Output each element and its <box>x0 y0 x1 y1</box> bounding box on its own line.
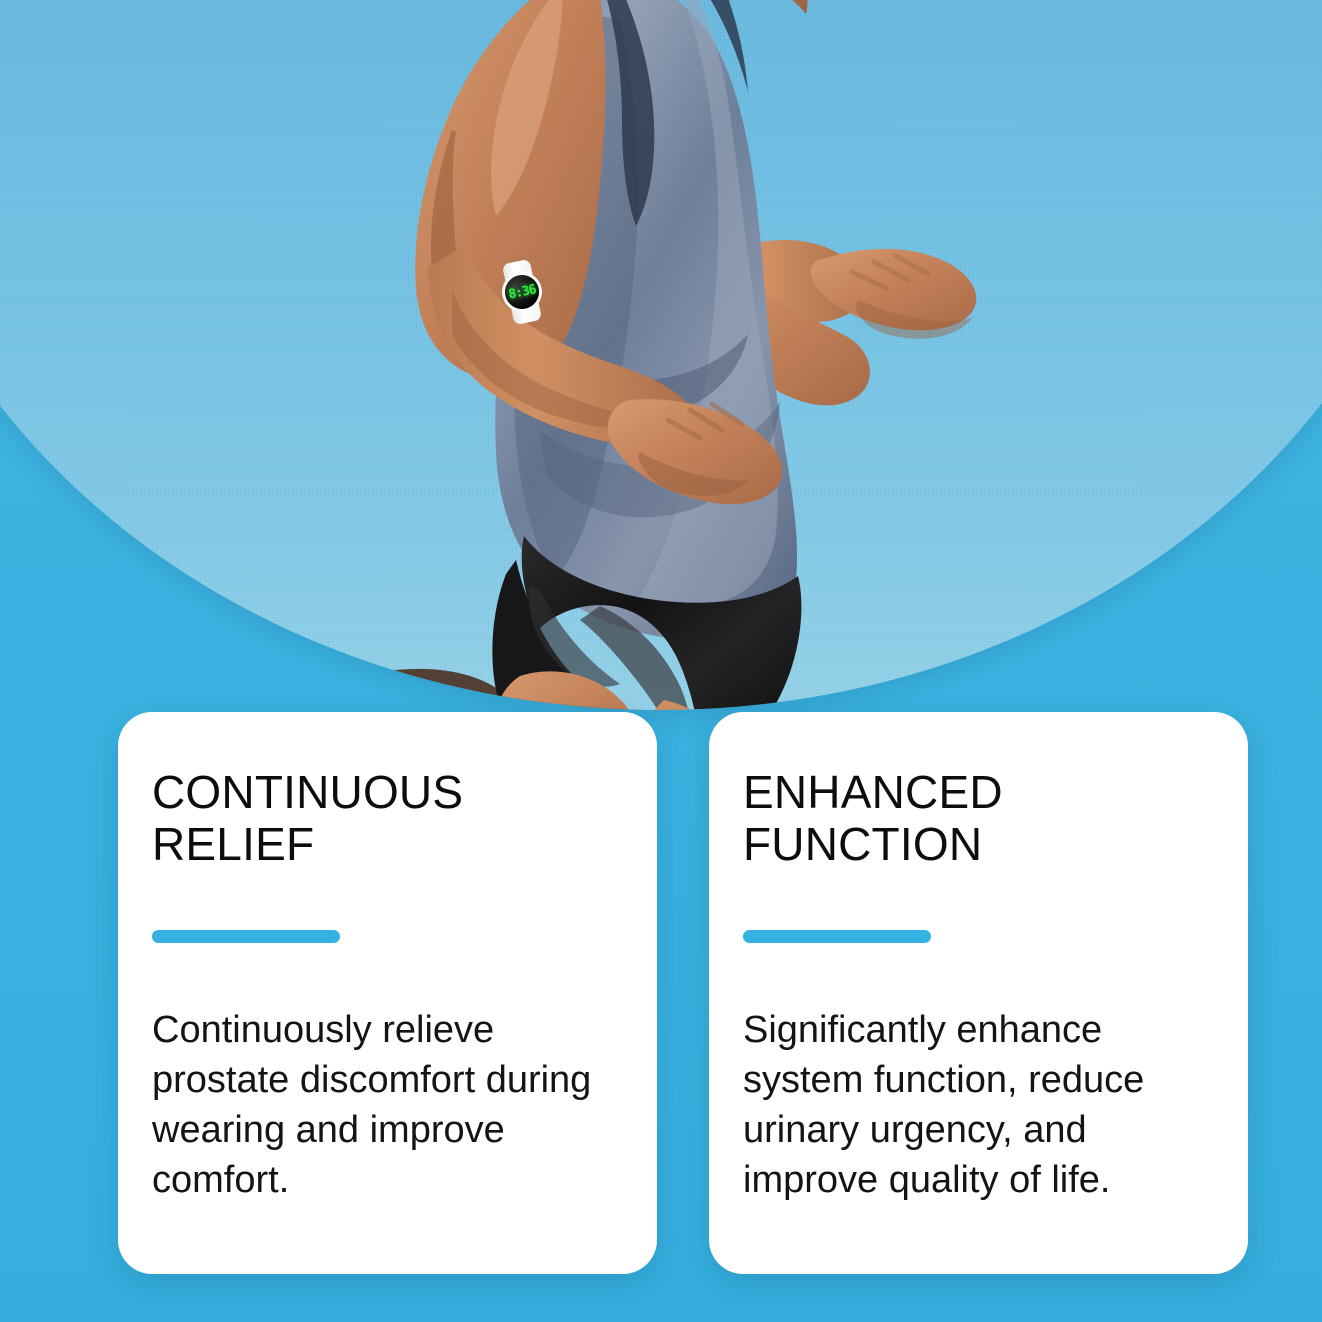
card-title: CONTINUOUS RELIEF <box>152 766 623 870</box>
card-accent-rule <box>743 930 931 943</box>
hero-photo: 8:36 <box>0 0 1322 710</box>
watch-time-display: 8:36 <box>507 283 536 301</box>
card-body-text: Significantly enhance system function, r… <box>743 1005 1214 1205</box>
card-title: ENHANCED FUNCTION <box>743 766 1214 870</box>
promo-poster: 8:36 CONTINUOUS RELIEF Continuously reli… <box>0 0 1322 1322</box>
runner-figure <box>0 0 1322 710</box>
smartwatch: 8:36 <box>499 261 545 323</box>
feature-card-enhanced-function[interactable]: ENHANCED FUNCTION Significantly enhance … <box>709 712 1248 1274</box>
hero-photo-circle: 8:36 <box>0 0 1322 710</box>
card-accent-rule <box>152 930 340 943</box>
feature-card-group: CONTINUOUS RELIEF Continuously relieve p… <box>118 712 1248 1274</box>
feature-card-continuous-relief[interactable]: CONTINUOUS RELIEF Continuously relieve p… <box>118 712 657 1274</box>
card-body-text: Continuously relieve prostate discomfort… <box>152 1005 623 1205</box>
